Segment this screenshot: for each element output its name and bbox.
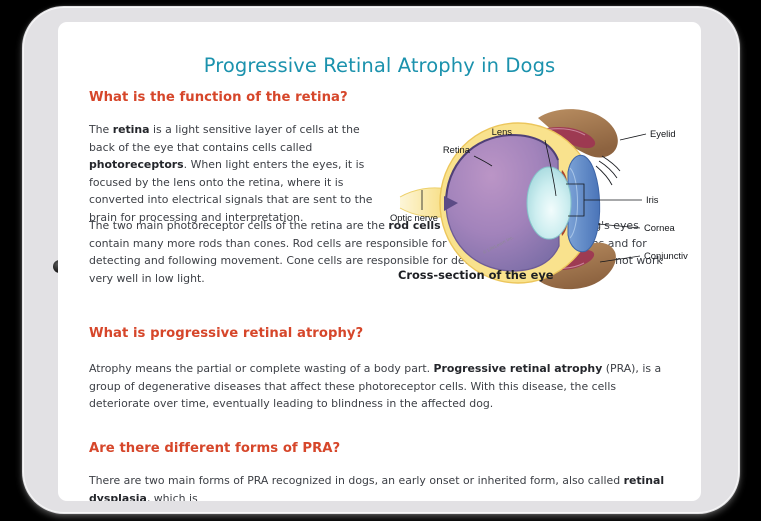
paragraph-retina-definition: The retina is a light sensitive layer of… — [89, 121, 385, 227]
label-cornea: Cornea — [644, 222, 676, 233]
page-title: Progressive Retinal Atrophy in Dogs — [58, 54, 701, 77]
eyelash-marks — [596, 156, 620, 185]
figure-caption: Cross-section of the eye — [398, 268, 553, 282]
label-iris: Iris — [646, 194, 659, 205]
label-eyelid: Eyelid — [650, 128, 676, 139]
paragraph-pra-definition: Atrophy means the partial or complete wa… — [89, 360, 673, 413]
eye-diagram-svg: © LifeLearn Inc. Lens Eyelid Retina Iris — [388, 104, 688, 294]
section-heading-what-is-pra: What is progressive retinal atrophy? — [89, 326, 363, 341]
paragraph-pra-forms: There are two main forms of PRA recogniz… — [89, 472, 673, 501]
label-optic-nerve: Optic nerve — [390, 212, 438, 223]
label-conjunctiva: Conjunctiva — [644, 250, 688, 261]
label-retina: Retina — [443, 144, 471, 155]
screenshot-root: Progressive Retinal Atrophy in Dogs What… — [0, 0, 761, 521]
label-lens: Lens — [492, 126, 513, 137]
eye-cross-section-diagram: © LifeLearn Inc. Lens Eyelid Retina Iris — [388, 104, 688, 294]
leader-line-eyelid — [620, 134, 646, 140]
document-content: Progressive Retinal Atrophy in Dogs What… — [58, 22, 701, 501]
leader-line-cornea — [598, 224, 640, 228]
section-heading-forms-of-pra: Are there different forms of PRA? — [89, 441, 340, 456]
section-heading-retina-function: What is the function of the retina? — [89, 90, 348, 105]
document-page[interactable]: Progressive Retinal Atrophy in Dogs What… — [58, 22, 701, 501]
lens-shape — [527, 167, 571, 239]
